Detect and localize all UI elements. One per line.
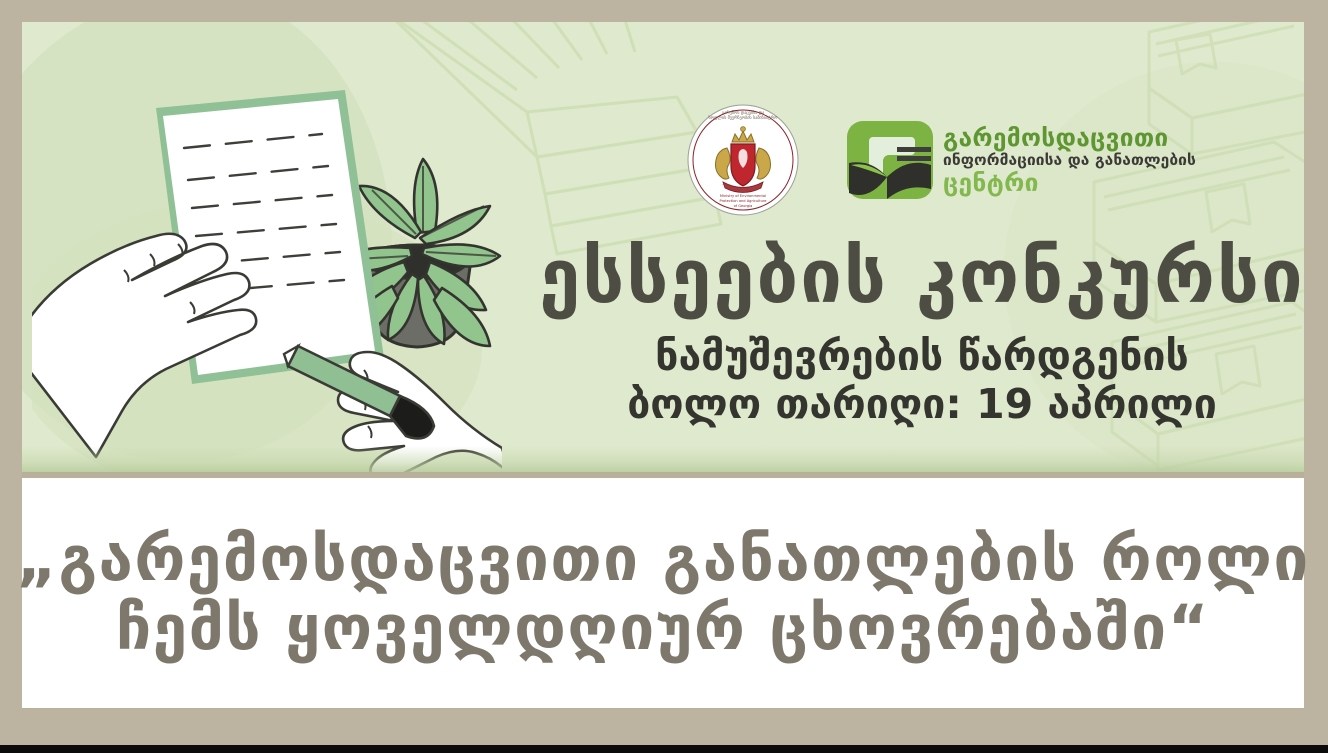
- page-title: ესსეების კონკურსი: [522, 240, 1304, 314]
- essay-theme-panel: „გარემოსდაცვითი განათლების როლი ჩემს ყოვ…: [22, 478, 1304, 708]
- svg-text:Protection and Agriculture: Protection and Agriculture: [720, 199, 768, 203]
- eiec-logo-line1: გარემოსდაცვითი: [943, 125, 1196, 150]
- eiec-book-mark-icon: [847, 117, 933, 203]
- green-header-panel: გარემოს დაცვისა და სოფლის მეურნეობის სამ…: [22, 22, 1304, 472]
- eiec-logo-line3: ცენტრი: [943, 170, 1196, 195]
- essay-theme-line-1: „გარემოსდაცვითი განათლების როლი: [16, 524, 1310, 593]
- eiec-logo: გარემოსდაცვითი ინფორმაციისა და განათლები…: [847, 117, 1196, 203]
- subtitle-line-2: ბოლო თარიღი: 19 აპრილი: [522, 380, 1304, 428]
- svg-text:სოფლის მეურნეობის სამინისტრო: სოფლის მეურნეობის სამინისტრო: [709, 115, 779, 120]
- frame-top-border: [0, 0, 1328, 22]
- ministry-of-environmental-protection-seal: გარემოს დაცვისა და სოფლის მეურნეობის სამ…: [687, 104, 799, 216]
- logo-row: გარემოს დაცვისა და სოფლის მეურნეობის სამ…: [687, 104, 1196, 216]
- essay-theme-line-2: ჩემს ყოველდღიურ ცხოვრებაში“: [116, 593, 1210, 662]
- frame-left-border: [0, 0, 22, 745]
- title-block: ესსეების კონკურსი ნამუშევრების წარდგენის…: [522, 240, 1304, 429]
- eiec-logo-line2: ინფორმაციისა და განათლების: [943, 152, 1196, 168]
- frame-bottom-border: [0, 709, 1328, 745]
- svg-text:of Georgia: of Georgia: [734, 204, 753, 208]
- poster: გარემოს დაცვისა და სოფლის მეურნეობის სამ…: [0, 0, 1328, 753]
- hands-writing-essay-illustration: [32, 48, 502, 472]
- frame-right-border: [1304, 0, 1328, 745]
- svg-text:Ministry of Environmental: Ministry of Environmental: [720, 194, 766, 198]
- subtitle-line-1: ნამუშევრების წარდგენის: [522, 332, 1304, 380]
- frame-footer-strip: [0, 745, 1328, 753]
